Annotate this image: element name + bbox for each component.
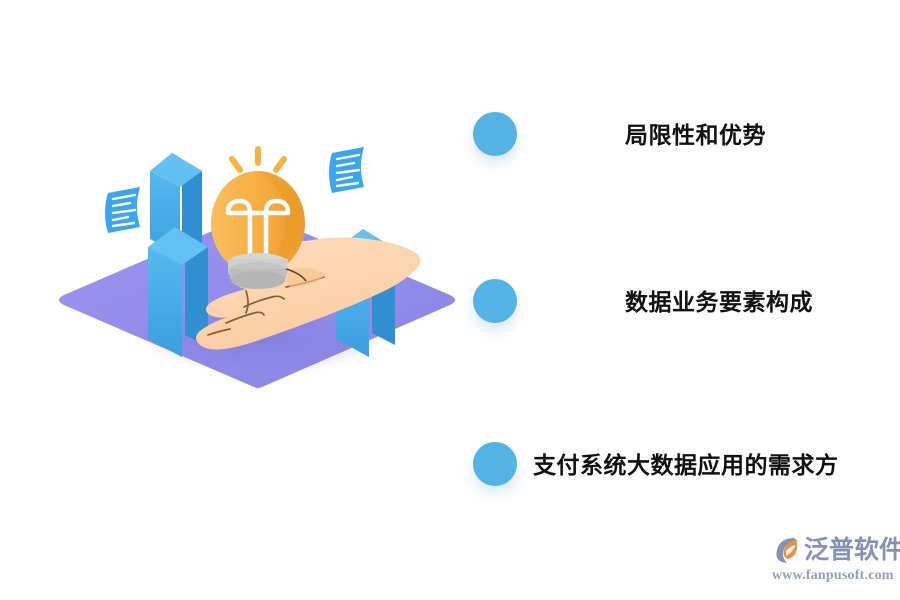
hand-lightbulb-illustration xyxy=(50,135,470,425)
document-sheet-right xyxy=(329,147,364,193)
bullet-dot-wrap-1 xyxy=(465,108,519,162)
bullet-item-2[interactable]: 数据业务要素构成 xyxy=(465,275,885,329)
watermark-brand-row: 泛普软件 xyxy=(772,533,894,567)
watermark: 泛普软件 www.fanpusoft.com xyxy=(772,533,894,589)
document-sheet-left xyxy=(105,187,140,233)
bullet-list: 局限性和优势 数据业务要素构成 支付系统大数据应用的需求方 xyxy=(465,95,885,515)
bullet-label-1: 局限性和优势 xyxy=(625,124,766,147)
bullet-dot-icon-2 xyxy=(473,279,517,323)
bullet-dot-icon-1 xyxy=(473,112,517,156)
bullet-item-1[interactable]: 局限性和优势 xyxy=(465,108,885,162)
bullet-label-2: 数据业务要素构成 xyxy=(625,291,813,314)
bullet-label-3: 支付系统大数据应用的需求方 xyxy=(533,454,839,477)
bullet-item-3[interactable]: 支付系统大数据应用的需求方 xyxy=(465,438,885,492)
watermark-url-text: www.fanpusoft.com xyxy=(772,569,894,583)
fanpu-logo-icon xyxy=(772,535,802,565)
bullet-dot-wrap-3 xyxy=(465,438,519,492)
light-rays xyxy=(232,149,284,170)
bullet-dot-icon-3 xyxy=(473,442,517,486)
watermark-brand-text: 泛普软件 xyxy=(804,538,900,563)
bullet-dot-wrap-2 xyxy=(465,275,519,329)
slide-canvas: 局限性和优势 数据业务要素构成 支付系统大数据应用的需求方 泛普软件 www.f… xyxy=(0,0,900,600)
